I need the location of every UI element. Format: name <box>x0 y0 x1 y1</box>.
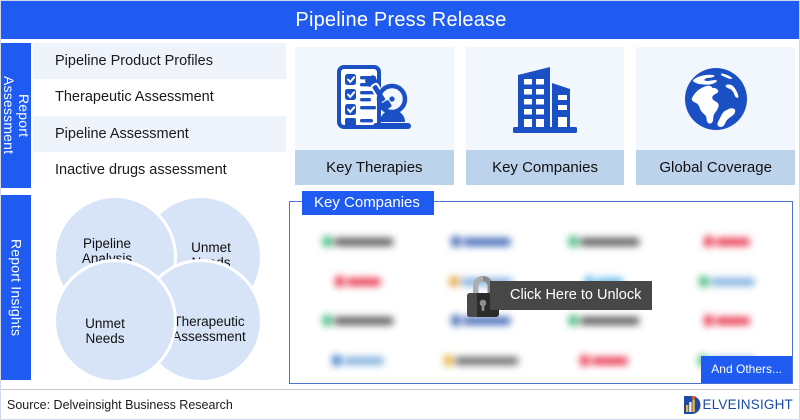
card-label: Key Therapies <box>295 150 454 185</box>
source-note: Source: Delveinsight Business Research <box>7 398 233 412</box>
buildings-icon <box>466 47 625 150</box>
venn-circle: Unmet Needs <box>53 259 177 383</box>
report-assessment-vertical-label: Report Assessment <box>1 76 31 154</box>
header-banner: Pipeline Press Release <box>1 1 800 39</box>
brand-name: ELVEINSIGHT <box>703 397 793 412</box>
delveinsight-logo: ELVEINSIGHT <box>683 395 793 415</box>
venn-label: Unmet Needs <box>85 316 125 346</box>
company-logo <box>296 222 419 262</box>
globe-icon <box>636 47 795 150</box>
card-key-companies[interactable]: Key Companies <box>466 47 625 185</box>
venn-label: Therapeutic Assessment <box>172 314 246 344</box>
company-logo <box>665 301 788 341</box>
report-assessment-list: Pipeline Product Profiles Therapeutic As… <box>33 43 286 188</box>
venn-diagram: Pipeline Analysis Unmet Needs Unmet Need… <box>39 193 277 385</box>
unlock-tooltip[interactable]: Click Here to Unlock <box>490 281 652 310</box>
key-companies-panel: Key Companies Click Here to Unlock And O… <box>289 201 793 384</box>
list-item[interactable]: Therapeutic Assessment <box>33 79 286 115</box>
company-logo <box>296 301 419 341</box>
page-title: Pipeline Press Release <box>295 9 506 32</box>
company-logo <box>296 262 419 302</box>
key-companies-tab: Key Companies <box>302 191 434 215</box>
company-logo <box>542 222 665 262</box>
and-others-badge[interactable]: And Others... <box>701 356 792 383</box>
delveinsight-mark-icon <box>683 395 702 415</box>
report-insights-vertical-tab: Report Insights <box>1 195 31 380</box>
card-label: Global Coverage <box>636 150 795 185</box>
card-global-coverage[interactable]: Global Coverage <box>636 47 795 185</box>
list-item[interactable]: Pipeline Assessment <box>33 116 286 152</box>
card-key-therapies[interactable]: Key Therapies <box>295 47 454 185</box>
company-logo <box>419 222 542 262</box>
press-release-infographic: Pipeline Press Release Report Assessment… <box>0 0 800 420</box>
report-assessment-section: Report Assessment Pipeline Product Profi… <box>1 43 286 188</box>
company-logo <box>665 222 788 262</box>
feature-cards: Key Therapies <box>295 47 795 185</box>
company-logo <box>419 341 542 381</box>
report-assessment-vertical-tab: Report Assessment <box>1 43 31 188</box>
report-insights-section: Report Insights Pipeline Analysis Unmet … <box>1 193 281 388</box>
company-logo <box>542 341 665 381</box>
card-label: Key Companies <box>466 150 625 185</box>
company-logo <box>296 341 419 381</box>
list-item[interactable]: Inactive drugs assessment <box>33 152 286 188</box>
checklist-microscope-icon <box>295 47 454 150</box>
unlock-overlay[interactable]: Click Here to Unlock <box>460 270 652 320</box>
list-item[interactable]: Pipeline Product Profiles <box>33 43 286 79</box>
report-insights-vertical-label: Report Insights <box>9 239 24 336</box>
footer: Source: Delveinsight Business Research E… <box>1 389 800 419</box>
company-logo <box>665 262 788 302</box>
